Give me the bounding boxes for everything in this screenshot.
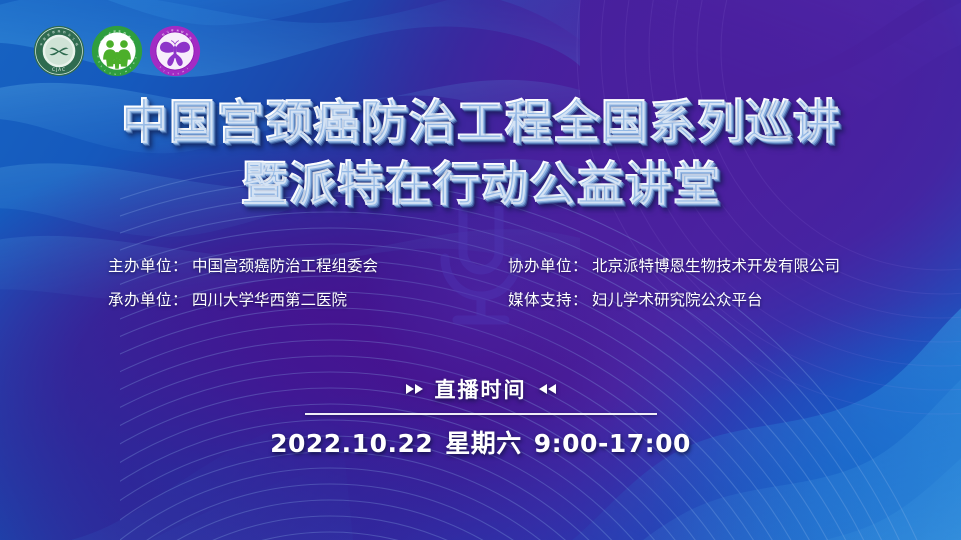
organizer-label: 承办单位： xyxy=(108,291,188,309)
organizer-value: 中国宫颈癌防治工程组委会 xyxy=(192,257,378,275)
live-weekday: 星期六 xyxy=(445,429,522,458)
livestream-poster: 中 国 宫 颈 癌 防 治 工 程 CJAC xyxy=(0,0,961,540)
organizer-value: 北京派特博恩生物技术开发有限公司 xyxy=(592,257,840,275)
title-line-1: 中国宫颈癌防治工程全国系列巡讲 xyxy=(0,97,961,149)
live-datetime: 2022.10.22星期六9:00-17:00 xyxy=(0,424,961,460)
organizer-logos: 中 国 宫 颈 癌 防 治 工 程 CJAC xyxy=(33,25,201,77)
title-line-2: 暨派特在行动公益讲堂 xyxy=(0,159,961,211)
organizer-info: 主办单位：中国宫颈癌防治工程组委会 协办单位：北京派特博恩生物技术开发有限公司 … xyxy=(108,255,898,311)
organizer-row: 承办单位：四川大学华西第二医院 xyxy=(108,289,508,311)
live-time-label: 直播时间 xyxy=(435,374,527,404)
divider xyxy=(305,413,657,415)
organizer-label: 主办单位： xyxy=(108,257,188,275)
double-arrow-left-icon xyxy=(539,384,556,394)
organizer-row: 媒体支持：妇儿学术研究院公众平台 xyxy=(508,289,898,311)
double-arrow-right-icon xyxy=(406,384,423,394)
svg-text:CJAC: CJAC xyxy=(52,67,66,73)
organizer-value: 四川大学华西第二医院 xyxy=(192,291,347,309)
women-and-children-academic-institute-logo: 妇 儿 学 术 研 究 院 A C A D E M Y xyxy=(149,25,201,77)
china-cervical-cancer-prevention-project-logo: 中 国 宫 颈 癌 防 治 工 程 CJAC xyxy=(33,25,85,77)
organizer-label: 协办单位： xyxy=(508,257,588,275)
live-time-heading: 直播时间 xyxy=(406,374,556,404)
organizer-value: 妇儿学术研究院公众平台 xyxy=(592,291,763,309)
live-hours: 9:00-17:00 xyxy=(534,429,691,458)
live-time-section: 直播时间 2022.10.22星期六9:00-17:00 xyxy=(0,374,961,460)
west-china-second-hospital-logo: 四 川 大 学 华 西 第 二 W E S T C H I N A H P xyxy=(91,25,143,77)
organizer-row: 主办单位：中国宫颈癌防治工程组委会 xyxy=(108,255,508,277)
poster-title: 中国宫颈癌防治工程全国系列巡讲 暨派特在行动公益讲堂 xyxy=(0,97,961,211)
organizer-label: 媒体支持： xyxy=(508,291,588,309)
organizer-row: 协办单位：北京派特博恩生物技术开发有限公司 xyxy=(508,255,898,277)
live-date: 2022.10.22 xyxy=(270,429,433,458)
